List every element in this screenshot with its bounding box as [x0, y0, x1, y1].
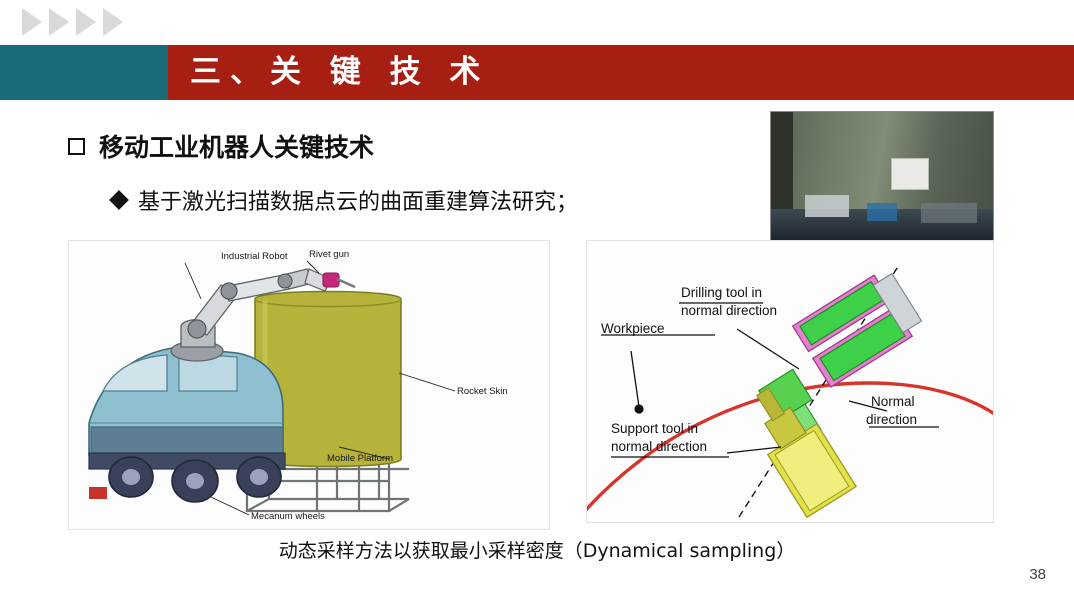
- bullet-item-1-label: 移动工业机器人关键技术: [99, 128, 374, 164]
- diamond-bullet-icon: [109, 190, 129, 210]
- label-normal-direction-line1: Normal: [871, 394, 915, 411]
- figure-caption: 动态采样方法以获取最小采样密度（Dynamical sampling）: [0, 536, 1074, 563]
- page-number: 38: [1029, 566, 1046, 583]
- mobile-robot-riveting-figure: Industrial Robot Rivet gun Rocket Skin M…: [68, 240, 550, 530]
- chevron-right-icon: [22, 8, 42, 36]
- square-bullet-icon: [68, 138, 85, 155]
- label-normal-direction-line2: direction: [866, 412, 917, 429]
- label-drilling-tool-line2: normal direction: [681, 303, 777, 320]
- bullet-item-2: 基于激光扫描数据点云的曲面重建算法研究；: [112, 184, 578, 216]
- label-mecanum-wheels: Mecanum wheels: [251, 511, 325, 522]
- title-band-left-block: [0, 45, 168, 100]
- label-support-tool-line1: Support tool in: [611, 421, 698, 438]
- bullet-item-1: 移动工业机器人关键技术: [68, 128, 374, 164]
- label-mobile-platform: Mobile Platform: [327, 453, 393, 464]
- label-workpiece: Workpiece: [601, 321, 665, 338]
- photo-object-left: [805, 195, 849, 217]
- chevron-right-icon: [76, 8, 96, 36]
- factory-wall-photo: [770, 111, 994, 244]
- photo-white-panel: [891, 158, 929, 190]
- mecanum-wheels-group: [89, 457, 281, 502]
- mobile-platform-body: [89, 347, 285, 469]
- chevron-right-icon: [103, 8, 123, 36]
- drilling-tool-diagram: [587, 241, 993, 522]
- normal-direction-drilling-figure: Workpiece Drilling tool in normal direct…: [586, 240, 994, 523]
- photo-object-blue: [867, 203, 897, 221]
- mobile-robot-diagram: [69, 241, 549, 529]
- photo-object-right: [921, 203, 977, 223]
- label-industrial-robot: Industrial Robot: [221, 251, 288, 262]
- bullet-item-2-label: 基于激光扫描数据点云的曲面重建算法研究；: [138, 184, 578, 216]
- chevron-right-icon: [49, 8, 69, 36]
- label-drilling-tool-line1: Drilling tool in: [681, 285, 762, 302]
- label-support-tool-line2: normal direction: [611, 439, 707, 456]
- page-title: 三、关 键 技 术: [190, 45, 489, 100]
- title-band: [0, 45, 1074, 100]
- label-rivet-gun: Rivet gun: [309, 249, 349, 260]
- label-rocket-skin: Rocket Skin: [457, 386, 508, 397]
- header-arrow-strip: [22, 8, 123, 36]
